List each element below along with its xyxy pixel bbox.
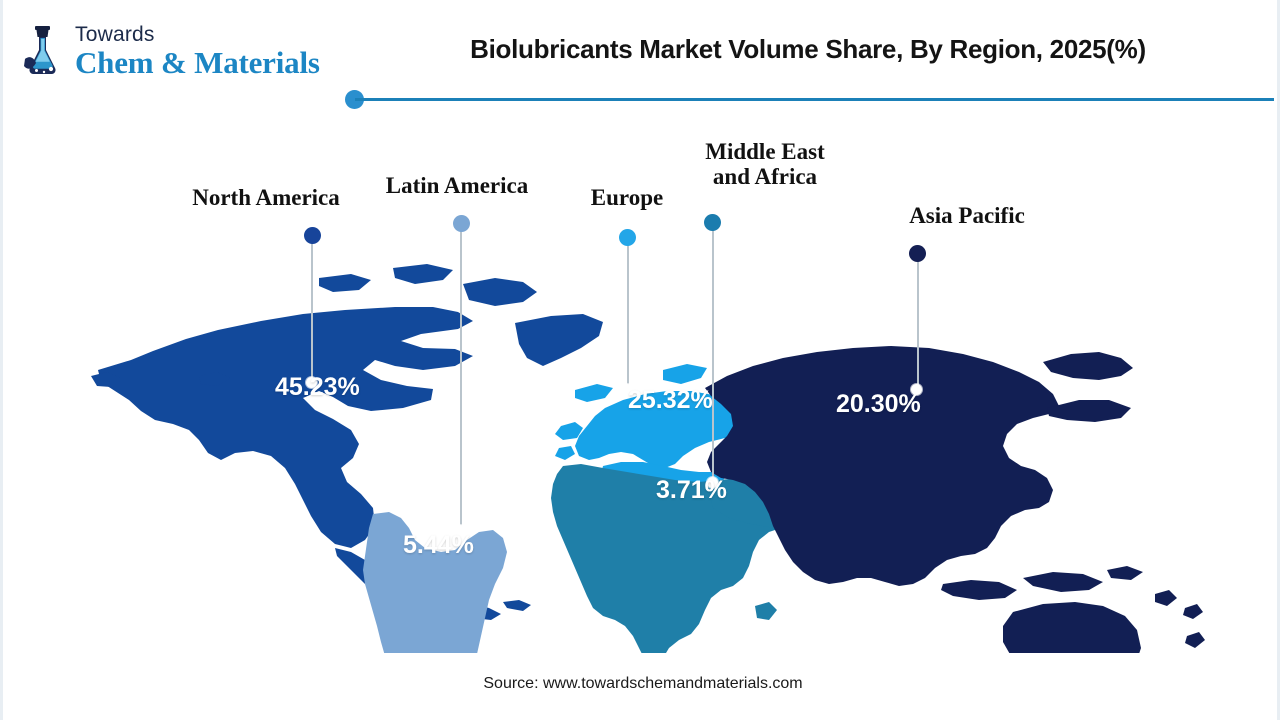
region-label-asia-pacific: Asia Pacific bbox=[877, 204, 1057, 229]
brand-logo[interactable]: Towards Chem & Materials bbox=[21, 24, 320, 78]
pin-line-middle-east-africa bbox=[712, 230, 714, 483]
source-note: Source: www.towardschemandmaterials.com bbox=[3, 675, 1280, 693]
page-title: Biolubricants Market Volume Share, By Re… bbox=[358, 34, 1258, 65]
region-label-middle-east-africa: Middle East and Africa bbox=[673, 140, 857, 190]
infographic-page: Towards Chem & Materials Biolubricants M… bbox=[0, 0, 1280, 720]
value-middle-east-africa: 3.71% bbox=[656, 476, 727, 505]
brand-name-bottom: Chem & Materials bbox=[75, 47, 320, 78]
pin-line-latin-america bbox=[460, 231, 462, 531]
map-region-north-america[interactable] bbox=[91, 264, 603, 626]
pin-line-europe bbox=[627, 245, 629, 390]
value-north-america: 45.23% bbox=[275, 373, 360, 402]
pin-dot-latin-america[interactable] bbox=[453, 215, 470, 232]
value-europe: 25.32% bbox=[628, 386, 713, 415]
pin-dot-asia-pacific[interactable] bbox=[909, 245, 926, 262]
flask-icon bbox=[21, 25, 67, 77]
pin-line-north-america bbox=[311, 243, 313, 383]
header: Towards Chem & Materials Biolubricants M… bbox=[3, 0, 1277, 100]
world-map: North America 45.23% Latin America 5.44%… bbox=[3, 108, 1280, 653]
pin-dot-middle-east-africa[interactable] bbox=[704, 214, 721, 231]
region-label-europe: Europe bbox=[565, 186, 689, 211]
value-latin-america: 5.44% bbox=[403, 531, 474, 560]
pin-dot-europe[interactable] bbox=[619, 229, 636, 246]
header-rule bbox=[355, 98, 1274, 101]
pin-dot-north-america[interactable] bbox=[304, 227, 321, 244]
region-label-latin-america: Latin America bbox=[369, 174, 545, 199]
pin-line-asia-pacific bbox=[917, 261, 919, 389]
region-label-north-america: North America bbox=[175, 186, 357, 211]
map-region-asia-pacific[interactable] bbox=[705, 346, 1205, 653]
value-asia-pacific: 20.30% bbox=[836, 390, 921, 419]
brand-text: Towards Chem & Materials bbox=[75, 24, 320, 78]
brand-name-top: Towards bbox=[75, 24, 320, 45]
